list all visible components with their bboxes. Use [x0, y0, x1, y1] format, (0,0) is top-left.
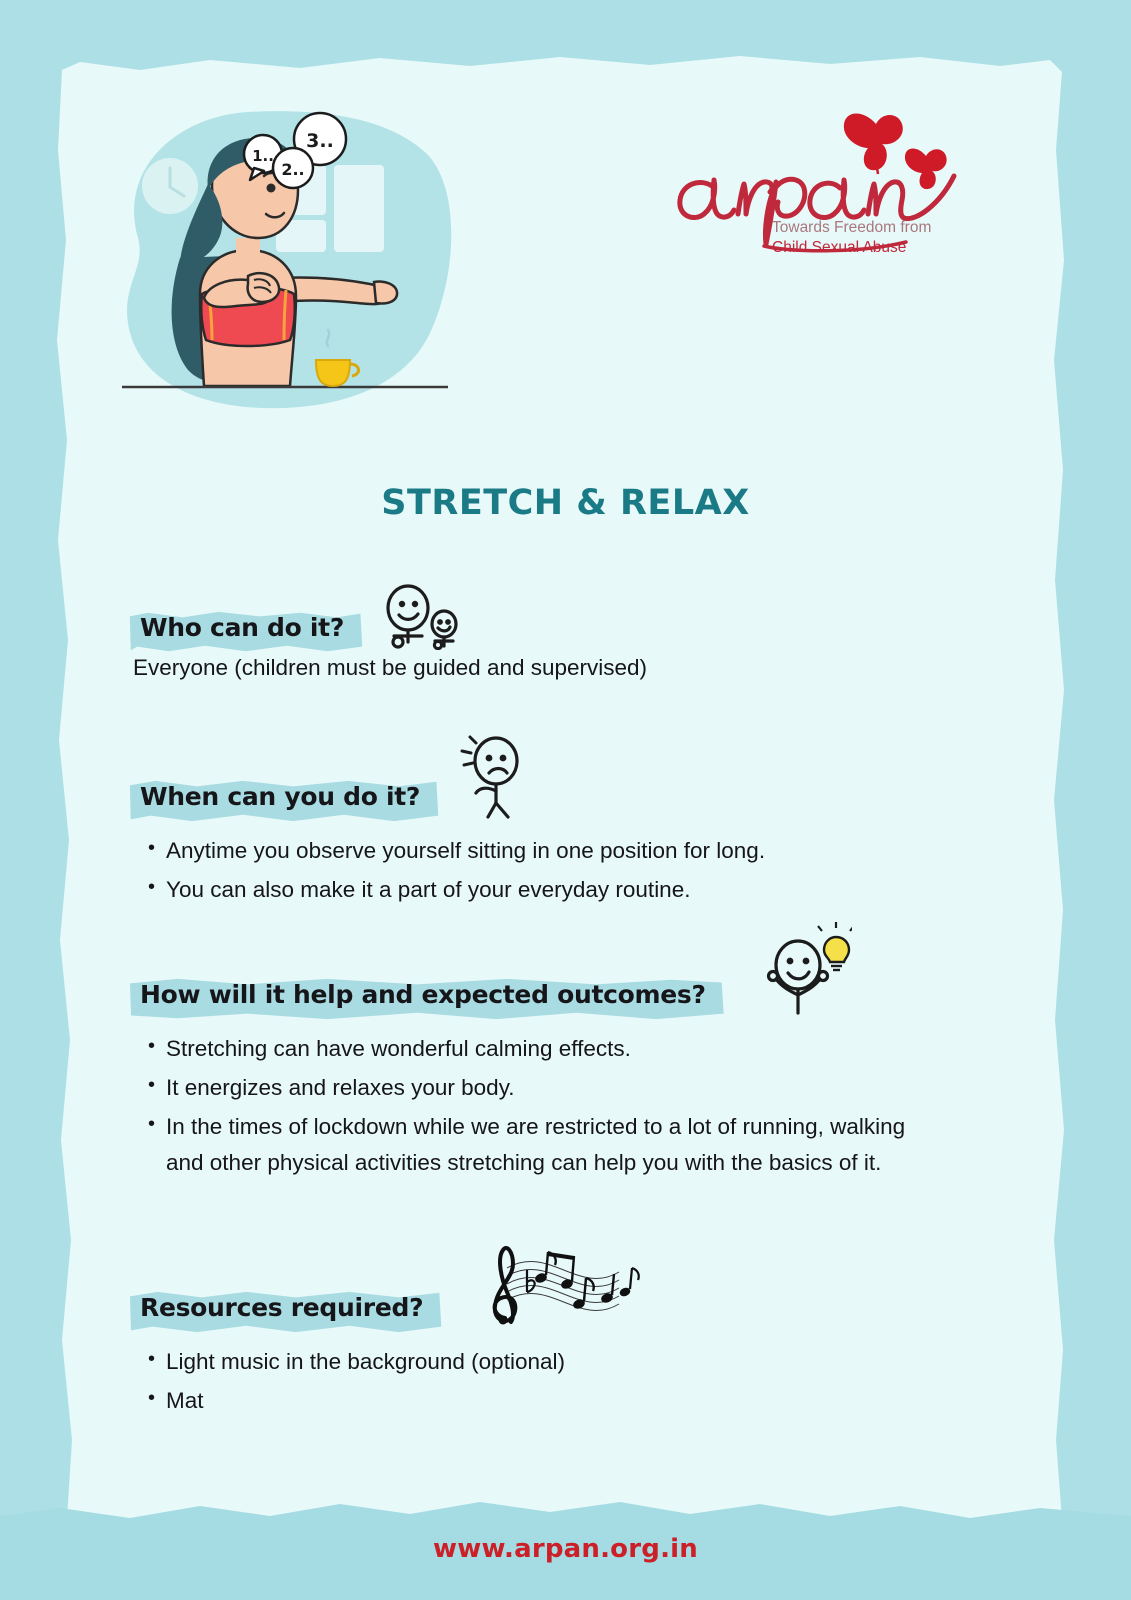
page-title: STRETCH & RELAX	[0, 483, 1131, 523]
butterfly-icon	[844, 114, 903, 175]
section-heading-text: How will it help and expected outcomes?	[140, 980, 706, 1009]
speech-bubble-2: 2..	[273, 148, 313, 188]
two-stick-figures-icon	[378, 584, 464, 650]
section-heading-row: When can you do it?	[0, 757, 1131, 819]
section-how-will-it-help: How will it help and expected outcomes?	[0, 955, 1131, 1184]
list-item: You can also make it a part of your ever…	[148, 872, 928, 908]
svg-text:1..: 1..	[252, 147, 274, 165]
poster: 1.. 3.. 2..	[0, 0, 1131, 1600]
logo-tagline-line2: Child Sexual Abuse	[772, 239, 906, 256]
butterfly-icon-small	[905, 149, 947, 190]
list-item: In the times of lockdown while we are re…	[148, 1109, 928, 1181]
clock-icon	[142, 158, 198, 214]
logo-tagline-line1: Towards Freedom from	[772, 219, 931, 236]
happy-stick-figure-lightbulb-icon	[756, 917, 852, 1017]
worried-stick-figure-icon	[454, 731, 528, 819]
section-heading-text: When can you do it?	[140, 782, 420, 811]
section-heading-row: How will it help and expected outcomes?	[0, 955, 1131, 1017]
list-item: Stretching can have wonderful calming ef…	[148, 1031, 928, 1067]
section-heading: Resources required?	[128, 1288, 443, 1330]
svg-text:3..: 3..	[306, 130, 334, 152]
arpan-logo: Towards Freedom from Child Sexual Abuse	[668, 104, 988, 264]
section-body: Everyone (children must be guided and su…	[0, 650, 1131, 686]
section-heading: When can you do it?	[128, 777, 440, 819]
stretching-illustration: 1.. 3.. 2..	[108, 98, 458, 418]
lightbulb-icon	[818, 922, 852, 970]
svg-text:2..: 2..	[281, 160, 304, 179]
section-heading: Who can do it?	[128, 608, 364, 650]
section-bullet-list: Light music in the background (optional)…	[0, 1344, 1131, 1419]
section-heading-row: Who can do it?	[0, 588, 1131, 650]
footer-url[interactable]: www.arpan.org.in	[0, 1534, 1131, 1564]
list-item: It energizes and relaxes your body.	[148, 1070, 928, 1106]
list-item: Light music in the background (optional)	[148, 1344, 928, 1380]
list-item: Anytime you observe yourself sitting in …	[148, 833, 928, 869]
section-heading-text: Who can do it?	[140, 613, 344, 642]
section-resources-required: Resources required?	[0, 1268, 1131, 1422]
section-when-can-you-do-it: When can you do it?	[0, 757, 1131, 911]
section-who-can-do-it: Who can do it?	[0, 588, 1131, 686]
list-item: Mat	[148, 1383, 928, 1419]
music-notes-icon	[479, 1234, 649, 1326]
section-heading: How will it help and expected outcomes?	[128, 975, 726, 1017]
section-bullet-list: Anytime you observe yourself sitting in …	[0, 833, 1131, 908]
section-heading-text: Resources required?	[140, 1293, 423, 1322]
section-heading-row: Resources required?	[0, 1268, 1131, 1330]
section-bullet-list: Stretching can have wonderful calming ef…	[0, 1031, 1131, 1181]
